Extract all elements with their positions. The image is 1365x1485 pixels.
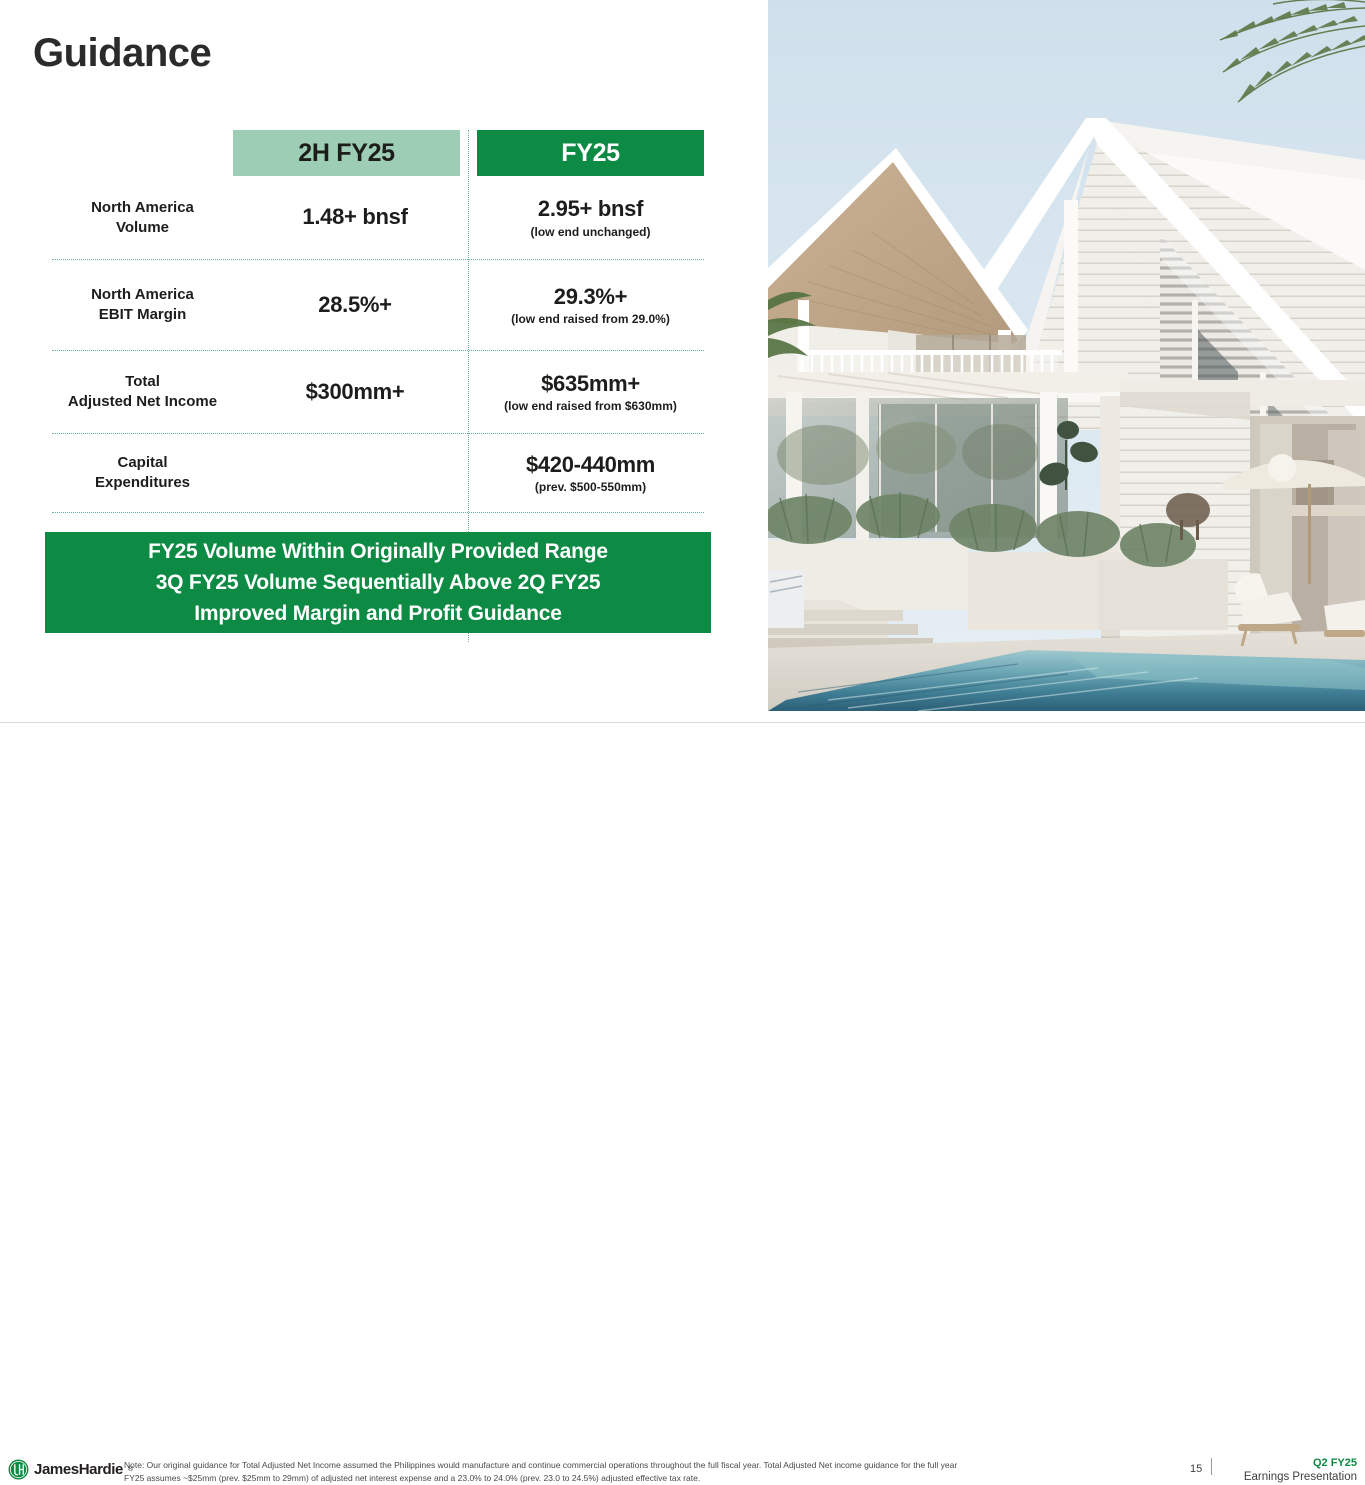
deck-label: Q2 FY25 Earnings Presentation: [1222, 1456, 1357, 1485]
page-title: Guidance: [33, 31, 211, 75]
row-label-north-america-ebit-margin: North AmericaEBIT Margin: [52, 285, 233, 325]
hero-photo: [768, 0, 1365, 711]
footer-separator: [1211, 1458, 1212, 1475]
callout-line-2: 3Q FY25 Volume Sequentially Above 2Q FY2…: [156, 567, 601, 598]
row-label-north-america-volume: North AmericaVolume: [52, 198, 233, 238]
cell-fy25-capex: $420-440mm (prev. $500-550mm): [477, 452, 704, 494]
highlights-callout: FY25 Volume Within Originally Provided R…: [45, 532, 711, 633]
cell-fy25-volume: 2.95+ bnsf (low end unchanged): [477, 196, 704, 238]
cell-value-main: 28.5%+: [318, 292, 391, 318]
page-number: 15: [1190, 1463, 1202, 1475]
callout-line-3: Improved Margin and Profit Guidance: [194, 598, 562, 629]
cell-value-main: 29.3%+: [554, 284, 627, 310]
brand-name: JamesHardie: [34, 1461, 123, 1478]
hero-photo-illustration: [768, 0, 1365, 711]
row-label-capital-expenditures: CapitalExpenditures: [52, 453, 233, 493]
cell-value-note: (prev. $500-550mm): [535, 480, 646, 494]
slide-footer: JamesHardie ® Note: Our original guidanc…: [0, 723, 1365, 768]
table-row: North AmericaEBIT Margin 28.5%+ 29.3%+ (…: [52, 260, 704, 351]
table-row: North AmericaVolume 1.48+ bnsf 2.95+ bns…: [52, 176, 704, 260]
footnote-text: Note: Our original guidance for Total Ad…: [124, 1459, 974, 1485]
callout-line-1: FY25 Volume Within Originally Provided R…: [148, 536, 608, 567]
cell-fy25-ebit-margin: 29.3%+ (low end raised from 29.0%): [477, 284, 704, 326]
cell-2h-fy25-volume: 1.48+ bnsf: [233, 204, 477, 230]
james-hardie-logo-icon: [8, 1459, 29, 1480]
column-header-fy25: FY25: [477, 130, 704, 176]
row-label-total-adjusted-net-income: TotalAdjusted Net Income: [52, 372, 233, 412]
brand-logo: JamesHardie ®: [8, 1459, 133, 1480]
cell-value-main: $300mm+: [306, 379, 405, 405]
cell-value-main: 1.48+ bnsf: [302, 204, 407, 230]
deck-period: Q2 FY25: [1222, 1456, 1357, 1470]
deck-subtitle: Earnings Presentation: [1222, 1470, 1357, 1485]
column-header-2h-fy25: 2H FY25: [233, 130, 460, 176]
cell-value-note: (low end raised from $630mm): [504, 399, 677, 413]
table-row: TotalAdjusted Net Income $300mm+ $635mm+…: [52, 351, 704, 434]
cell-value-note: (low end unchanged): [531, 225, 651, 239]
cell-2h-fy25-ebit-margin: 28.5%+: [233, 292, 477, 318]
guidance-table: 2H FY25 FY25 North AmericaVolume 1.48+ b…: [52, 130, 704, 513]
table-header-row: 2H FY25 FY25: [52, 130, 704, 176]
cell-2h-fy25-net-income: $300mm+: [233, 379, 477, 405]
cell-value-main: 2.95+ bnsf: [538, 196, 643, 222]
table-row: CapitalExpenditures $420-440mm (prev. $5…: [52, 434, 704, 513]
cell-value-main: $635mm+: [541, 371, 640, 397]
table-header-spacer: [52, 130, 233, 176]
cell-value-main: $420-440mm: [526, 452, 655, 478]
cell-fy25-net-income: $635mm+ (low end raised from $630mm): [477, 371, 704, 413]
cell-value-note: (low end raised from 29.0%): [511, 312, 670, 326]
